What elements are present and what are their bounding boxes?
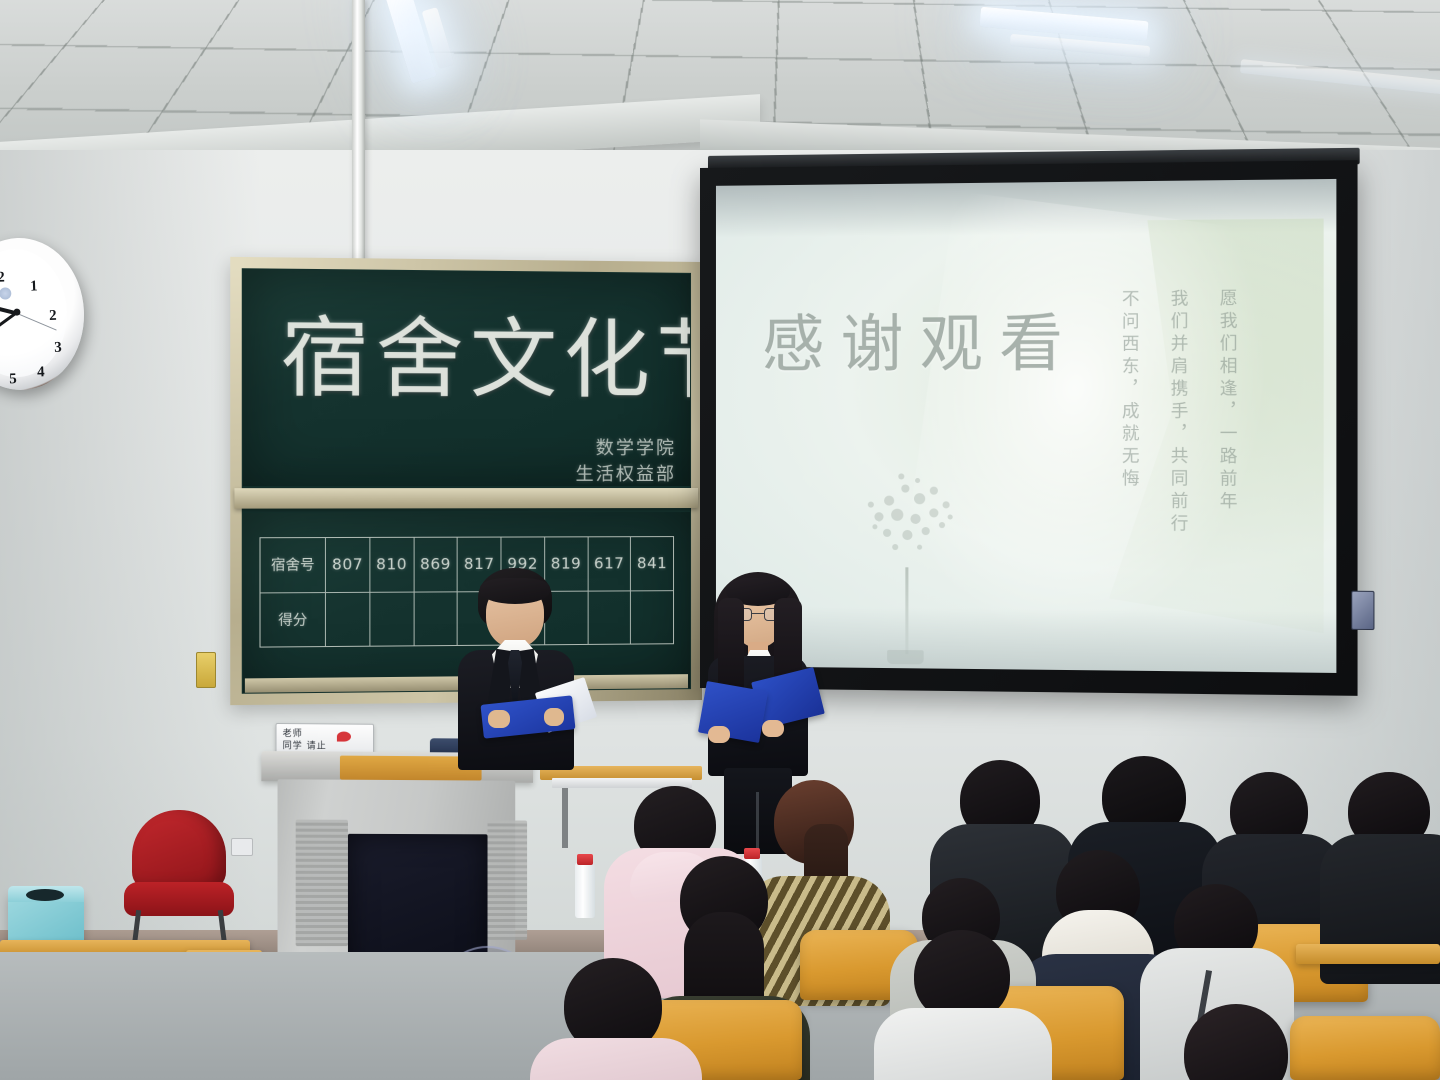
clock-brand-mark — [0, 288, 11, 300]
audience-seat — [1290, 1016, 1440, 1080]
slide-vertical-line: 我们并肩携手，共同前行 — [1164, 289, 1190, 524]
lectern-vent-left — [296, 820, 348, 947]
blackboard-title: 宿舍文化节 — [280, 315, 690, 405]
slide-vertical-text: 愿我们相逢，一路前年 我们并肩携手，共同前行 不问西东，成就无悔 — [1116, 289, 1240, 525]
chair-backrest — [132, 810, 226, 890]
clock-number: 3 — [54, 340, 62, 357]
slide-title: 感谢观看 — [762, 312, 1079, 376]
table-cell-dorm: 617 — [587, 537, 630, 590]
blackboard-subtitle-line1: 数学学院 — [576, 436, 677, 462]
table-cell-dorm: 807 — [325, 538, 369, 592]
clock-number: 2 — [49, 308, 57, 325]
table-cell-score — [587, 591, 630, 644]
tissue-box-opening — [26, 889, 64, 901]
table-cell-score — [630, 591, 673, 644]
male-presenter — [452, 568, 580, 768]
clock-minute-hand — [0, 312, 17, 341]
clock-number: 5 — [9, 371, 17, 388]
presenter-hand — [762, 720, 784, 737]
podium-nameplate-text: 老师 同学 请止 — [283, 729, 327, 753]
audience-member — [1330, 772, 1440, 968]
presenter-hand — [708, 726, 730, 743]
audience-member — [534, 958, 694, 1080]
blackboard-divider-rail — [234, 488, 698, 509]
clock-number: 12 — [0, 270, 5, 288]
table-cell-score — [369, 592, 413, 646]
blackboard-upper-panel: 宿舍文化节 数学学院 生活权益部 — [243, 269, 690, 486]
table-cell-score — [413, 592, 457, 645]
blackboard-subtitle-line2: 生活权益部 — [576, 462, 677, 486]
nameplate-line-1: 老师 — [283, 729, 327, 741]
audience-pink-hoodie — [530, 1038, 702, 1080]
water-bottle — [575, 862, 595, 918]
clock-face: 12 1 2 3 4 5 6 — [0, 247, 69, 378]
nameplate-red-mark-icon — [337, 732, 351, 742]
tree-illustration-icon — [849, 460, 977, 574]
slide-vertical-line: 不问西东，成就无悔 — [1116, 289, 1142, 524]
presenter-fringe — [480, 578, 550, 604]
clock-number: 1 — [30, 278, 38, 295]
audience-white-jacket — [874, 1008, 1052, 1080]
presenter-hand — [544, 708, 564, 726]
side-table-leg — [562, 788, 568, 848]
table-cell-dorm: 841 — [630, 537, 673, 590]
clock-number: 4 — [37, 364, 45, 381]
desk-surface — [1296, 944, 1440, 964]
table-row-header: 得分 — [261, 593, 325, 647]
bottle-cap-icon — [577, 854, 593, 865]
wall-speaker-icon — [1351, 591, 1374, 630]
presenter-hand — [488, 710, 510, 728]
table-cell-dorm: 810 — [369, 538, 413, 591]
classroom-scene: 12 1 2 3 4 5 6 宿舍文化节 数学学院 生活权益部 — [0, 0, 1440, 1080]
red-chair — [118, 810, 240, 940]
lectern-vent-right — [488, 820, 528, 940]
glasses-bridge — [752, 613, 764, 614]
projector-hotspot — [893, 191, 1303, 673]
audience-hair — [1184, 1004, 1288, 1080]
table-row-header: 宿舍号 — [261, 538, 325, 592]
blackboard-subtitle: 数学学院 生活权益部 — [576, 436, 677, 486]
audience-member — [880, 930, 1040, 1080]
slide-vertical-line: 愿我们相逢，一路前年 — [1213, 289, 1239, 525]
table-cell-dorm: 869 — [413, 538, 457, 591]
table-cell-score — [325, 592, 369, 646]
power-outlet-icon[interactable] — [196, 652, 216, 688]
